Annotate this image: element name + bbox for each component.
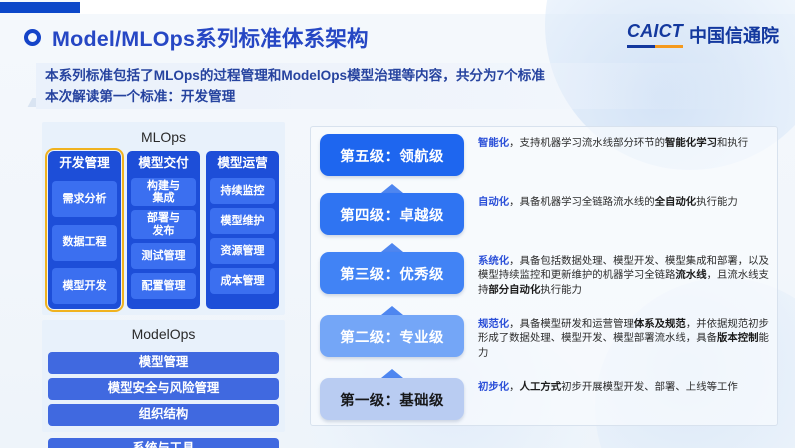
arrow-up-icon [320, 235, 464, 252]
mlops-item-chip[interactable]: 数据工程 [52, 225, 117, 261]
mlops-item-chip[interactable]: 测试管理 [131, 243, 196, 269]
mlops-item-chip[interactable]: 模型维护 [210, 208, 275, 234]
logo-caict-mark: CAICT [627, 22, 683, 48]
mlops-item-chip[interactable]: 成本管理 [210, 268, 275, 294]
modelops-item-chip[interactable]: 组织结构 [48, 404, 279, 426]
mlops-item-chip[interactable]: 需求分析 [52, 181, 117, 217]
maturity-model-panel: 第五级：领航级智能化，支持机器学习流水线部分环节的智能化学习和执行第四级：卓越级… [310, 126, 778, 426]
modelops-group: ModelOps 模型管理模型安全与风险管理组织结构 [42, 320, 285, 432]
mlops-column-3[interactable]: 模型运营持续监控模型维护资源管理成本管理 [206, 151, 279, 309]
mlops-group: MLOps 开发管理需求分析数据工程模型开发模型交付构建与集成部署与发布测试管理… [42, 122, 285, 315]
arrow-up-icon [320, 361, 464, 378]
mlops-column-head: 模型运营 [210, 155, 275, 174]
mlops-item-chip[interactable]: 持续监控 [210, 178, 275, 204]
maturity-level-description: 规范化，具备模型研发和运营管理体系及规范，并依据规范初步形成了数据处理、模型开发… [464, 315, 769, 361]
logo-underline [627, 45, 683, 48]
mlops-column-1[interactable]: 开发管理需求分析数据工程模型开发 [48, 151, 121, 309]
maturity-levels: 第五级：领航级智能化，支持机器学习流水线部分环节的智能化学习和执行第四级：卓越级… [311, 127, 777, 425]
maturity-level-row: 第四级：卓越级自动化，具备机器学习全链路流水线的全自动化执行能力 [320, 193, 769, 235]
maturity-level-row: 第三级：优秀级系统化，具备包括数据处理、模型开发、模型集成和部署，以及模型持续监… [320, 252, 769, 298]
mlops-columns: 开发管理需求分析数据工程模型开发模型交付构建与集成部署与发布测试管理配置管理模型… [48, 151, 279, 309]
arrow-up-icon [320, 176, 464, 193]
maturity-level-box[interactable]: 第二级：专业级 [320, 315, 464, 357]
ring-icon [24, 29, 41, 46]
subtitle-band: 本系列标准包括了MLOps的过程管理和ModelOps模型治理等内容，共分为7个… [36, 63, 736, 109]
maturity-level-description: 系统化，具备包括数据处理、模型开发、模型集成和部署，以及模型持续监控和更新维护的… [464, 252, 769, 298]
mlops-column-head: 模型交付 [131, 155, 196, 174]
maturity-level-row: 第一级：基础级初步化，人工方式初步开展模型开发、部署、上线等工作 [320, 378, 769, 420]
architecture-left-panel: MLOps 开发管理需求分析数据工程模型开发模型交付构建与集成部署与发布测试管理… [42, 122, 285, 448]
mlops-item-chip[interactable]: 配置管理 [131, 273, 196, 299]
mlops-item-chip[interactable]: 模型开发 [52, 268, 117, 304]
mlops-column-head: 开发管理 [52, 155, 117, 174]
mlops-item-chip[interactable]: 部署与发布 [131, 210, 196, 239]
subtitle-line-1: 本系列标准包括了MLOps的过程管理和ModelOps模型治理等内容，共分为7个… [45, 66, 736, 86]
maturity-level-row: 第五级：领航级智能化，支持机器学习流水线部分环节的智能化学习和执行 [320, 134, 769, 176]
maturity-level-description: 初步化，人工方式初步开展模型开发、部署、上线等工作 [464, 378, 769, 395]
modelops-item-chip[interactable]: 模型管理 [48, 352, 279, 374]
mlops-column-2[interactable]: 模型交付构建与集成部署与发布测试管理配置管理 [127, 151, 200, 309]
logo-word: CAICT [627, 21, 683, 41]
mlops-group-title: MLOps [48, 126, 279, 151]
slide-canvas: Model/MLOps系列标准体系架构 CAICT 中国信通院 本系列标准包括了… [0, 0, 795, 448]
maturity-level-description: 自动化，具备机器学习全链路流水线的全自动化执行能力 [464, 193, 769, 210]
page-header: Model/MLOps系列标准体系架构 [24, 22, 369, 53]
page-title: Model/MLOps系列标准体系架构 [52, 22, 369, 53]
modelops-item-chip[interactable]: 模型安全与风险管理 [48, 378, 279, 400]
caict-logo: CAICT 中国信通院 [627, 22, 779, 48]
maturity-level-box[interactable]: 第四级：卓越级 [320, 193, 464, 235]
logo-chinese-name: 中国信通院 [689, 27, 779, 48]
top-accent-bar [0, 2, 80, 13]
maturity-level-box[interactable]: 第三级：优秀级 [320, 252, 464, 294]
tools-row-chip[interactable]: 系统与工具 [48, 438, 279, 448]
maturity-level-box[interactable]: 第一级：基础级 [320, 378, 464, 420]
modelops-group-title: ModelOps [48, 323, 279, 348]
tools-row: 系统与工具 [42, 438, 285, 448]
mlops-item-chip[interactable]: 资源管理 [210, 238, 275, 264]
maturity-level-row: 第二级：专业级规范化，具备模型研发和运营管理体系及规范，并依据规范初步形成了数据… [320, 315, 769, 361]
subtitle-line-2: 本次解读第一个标准：开发管理 [45, 87, 736, 107]
maturity-level-box[interactable]: 第五级：领航级 [320, 134, 464, 176]
maturity-level-description: 智能化，支持机器学习流水线部分环节的智能化学习和执行 [464, 134, 769, 151]
mlops-item-chip[interactable]: 构建与集成 [131, 178, 196, 207]
modelops-items: 模型管理模型安全与风险管理组织结构 [48, 352, 279, 426]
arrow-up-icon [320, 298, 464, 315]
